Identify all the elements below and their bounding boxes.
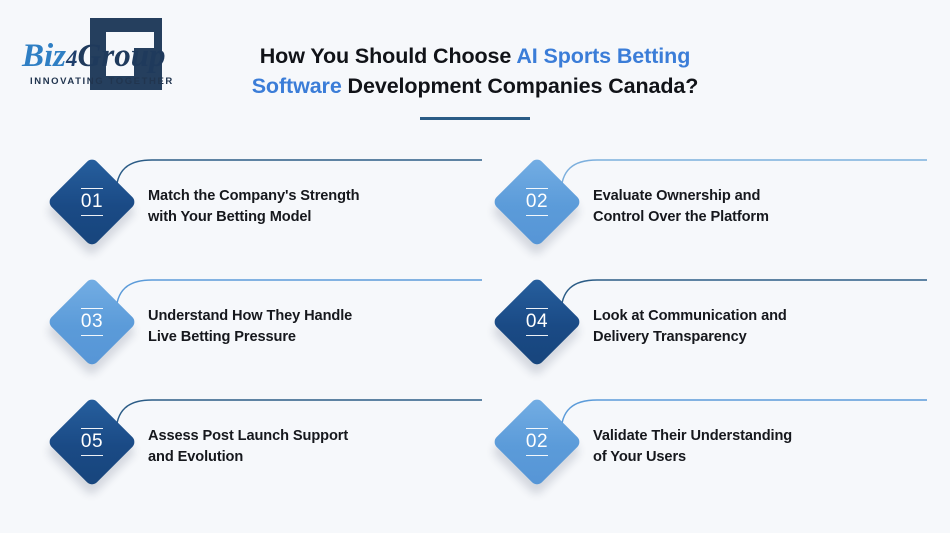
logo-word-four: 4: [66, 46, 78, 71]
item-heading: Evaluate Ownership and Control Over the …: [593, 186, 923, 228]
list-item[interactable]: 04 Look at Communication and Delivery Tr…: [493, 278, 923, 388]
item-heading: Understand How They Handle Live Betting …: [148, 306, 478, 348]
number-badge: 01: [48, 158, 136, 246]
badge-number: 02: [526, 428, 548, 456]
badge-number-container: 05: [60, 410, 124, 474]
item-heading: Assess Post Launch Support and Evolution: [148, 426, 478, 468]
logo-wordmark: Biz4Group: [22, 40, 166, 75]
logo-word-group: Group: [78, 38, 166, 74]
badge-number: 02: [526, 188, 548, 216]
title-segment-plain-2: Development Companies Canada?: [342, 74, 699, 98]
badge-number-container: 01: [60, 170, 124, 234]
title-underline-rule: [420, 117, 530, 120]
list-item[interactable]: 05 Assess Post Launch Support and Evolut…: [48, 398, 478, 508]
number-badge: 03: [48, 278, 136, 366]
logo-tagline: INNOVATING TOGETHER: [30, 76, 174, 87]
item-heading-line2: with Your Betting Model: [148, 207, 478, 228]
page-title: How You Should Choose AI Sports Betting …: [215, 41, 735, 101]
badge-number: 01: [81, 188, 103, 216]
brand-logo[interactable]: Biz4Group INNOVATING TOGETHER: [18, 18, 178, 94]
badge-number: 05: [81, 428, 103, 456]
title-segment-plain-1: How You Should Choose: [260, 44, 517, 68]
item-heading-line1: Evaluate Ownership and: [593, 186, 923, 207]
badge-number-container: 04: [505, 290, 569, 354]
header: Biz4Group INNOVATING TOGETHER How You Sh…: [0, 0, 950, 135]
number-badge: 02: [493, 398, 581, 486]
item-heading-line2: Control Over the Platform: [593, 207, 923, 228]
item-heading-line1: Match the Company's Strength: [148, 186, 478, 207]
badge-number-container: 02: [505, 410, 569, 474]
badge-number-container: 02: [505, 170, 569, 234]
item-heading: Look at Communication and Delivery Trans…: [593, 306, 923, 348]
badge-number: 03: [81, 308, 103, 336]
badge-number-container: 03: [60, 290, 124, 354]
list-item[interactable]: 01 Match the Company's Strength with You…: [48, 158, 478, 268]
item-heading-line2: Delivery Transparency: [593, 327, 923, 348]
list-item[interactable]: 03 Understand How They Handle Live Betti…: [48, 278, 478, 388]
list-item[interactable]: 02 Evaluate Ownership and Control Over t…: [493, 158, 923, 268]
logo-word-biz: Biz: [22, 38, 66, 74]
list-item[interactable]: 02 Validate Their Understanding of Your …: [493, 398, 923, 508]
number-badge: 05: [48, 398, 136, 486]
item-heading-line1: Validate Their Understanding: [593, 426, 923, 447]
item-heading-line1: Understand How They Handle: [148, 306, 478, 327]
item-heading: Match the Company's Strength with Your B…: [148, 186, 478, 228]
badge-number: 04: [526, 308, 548, 336]
infographic-canvas: Biz4Group INNOVATING TOGETHER How You Sh…: [0, 0, 950, 533]
item-heading: Validate Their Understanding of Your Use…: [593, 426, 923, 468]
item-heading-line1: Look at Communication and: [593, 306, 923, 327]
item-heading-line2: of Your Users: [593, 447, 923, 468]
number-badge: 02: [493, 158, 581, 246]
item-heading-line2: Live Betting Pressure: [148, 327, 478, 348]
item-heading-line1: Assess Post Launch Support: [148, 426, 478, 447]
number-badge: 04: [493, 278, 581, 366]
item-heading-line2: and Evolution: [148, 447, 478, 468]
